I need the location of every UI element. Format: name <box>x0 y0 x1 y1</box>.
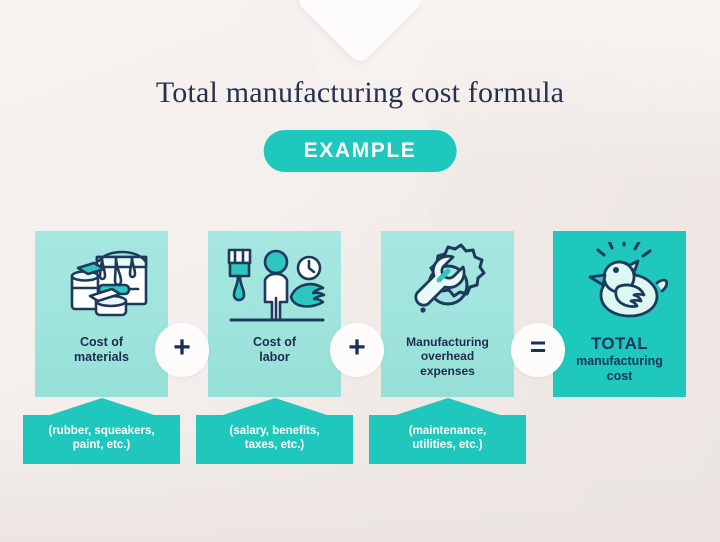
plus-operator-1: + <box>155 323 209 377</box>
example-badge: EXAMPLE <box>264 130 457 172</box>
card-total: TOTAL manufacturing cost <box>553 231 686 397</box>
worker-paintbrush-clock-icon <box>208 231 341 335</box>
label-line-2: materials <box>74 350 129 365</box>
card-label-overhead: Manufacturing overhead expenses <box>400 335 495 378</box>
banner-line-1: (maintenance, <box>373 424 522 438</box>
label-line-2: labor <box>253 350 296 365</box>
card-label-labor: Cost of labor <box>247 335 302 365</box>
banner-line-2: paint, etc.) <box>27 438 176 452</box>
equals-icon: = <box>530 333 546 361</box>
paint-cans-icon <box>35 231 168 335</box>
label-line-1: Manufacturing <box>406 335 489 349</box>
plus-icon: + <box>348 333 366 363</box>
banner-materials: (rubber, squeakers, paint, etc.) <box>23 415 180 464</box>
label-line-3: expenses <box>406 364 489 378</box>
label-line-2: overhead <box>406 349 489 363</box>
formula-item-labor: Cost of labor (salary, benefits, taxes, … <box>208 231 341 464</box>
total-label-line-1: TOTAL <box>591 335 648 354</box>
formula-row: Cost of materials (rubber, squeakers, pa… <box>0 231 720 471</box>
gear-wrench-icon <box>381 231 514 335</box>
page-title: Total manufacturing cost formula <box>0 76 720 110</box>
label-line-1: Cost of <box>253 335 296 350</box>
banner-overhead: (maintenance, utilities, etc.) <box>369 415 526 464</box>
top-chevron-notch <box>295 0 425 65</box>
rubber-duck-icon <box>553 231 686 335</box>
total-label-line-2: manufacturing <box>576 354 663 369</box>
card-label-materials: Cost of materials <box>68 335 135 365</box>
label-line-1: Cost of <box>74 335 129 350</box>
formula-item-total: TOTAL manufacturing cost <box>553 231 686 397</box>
plus-operator-2: + <box>330 323 384 377</box>
banner-line-1: (rubber, squeakers, <box>27 424 176 438</box>
banner-line-2: utilities, etc.) <box>373 438 522 452</box>
card-overhead: Manufacturing overhead expenses <box>381 231 514 397</box>
formula-item-materials: Cost of materials (rubber, squeakers, pa… <box>35 231 168 464</box>
card-labor: Cost of labor <box>208 231 341 397</box>
banner-line-1: (salary, benefits, <box>200 424 349 438</box>
banner-line-2: taxes, etc.) <box>200 438 349 452</box>
card-label-total: manufacturing cost <box>576 354 663 384</box>
equals-operator: = <box>511 323 565 377</box>
card-materials: Cost of materials <box>35 231 168 397</box>
banner-labor: (salary, benefits, taxes, etc.) <box>196 415 353 464</box>
infographic-canvas: Total manufacturing cost formula EXAMPLE <box>0 0 720 542</box>
total-label-line-3: cost <box>576 369 663 384</box>
plus-icon: + <box>173 333 191 363</box>
formula-item-overhead: Manufacturing overhead expenses (mainten… <box>381 231 514 464</box>
